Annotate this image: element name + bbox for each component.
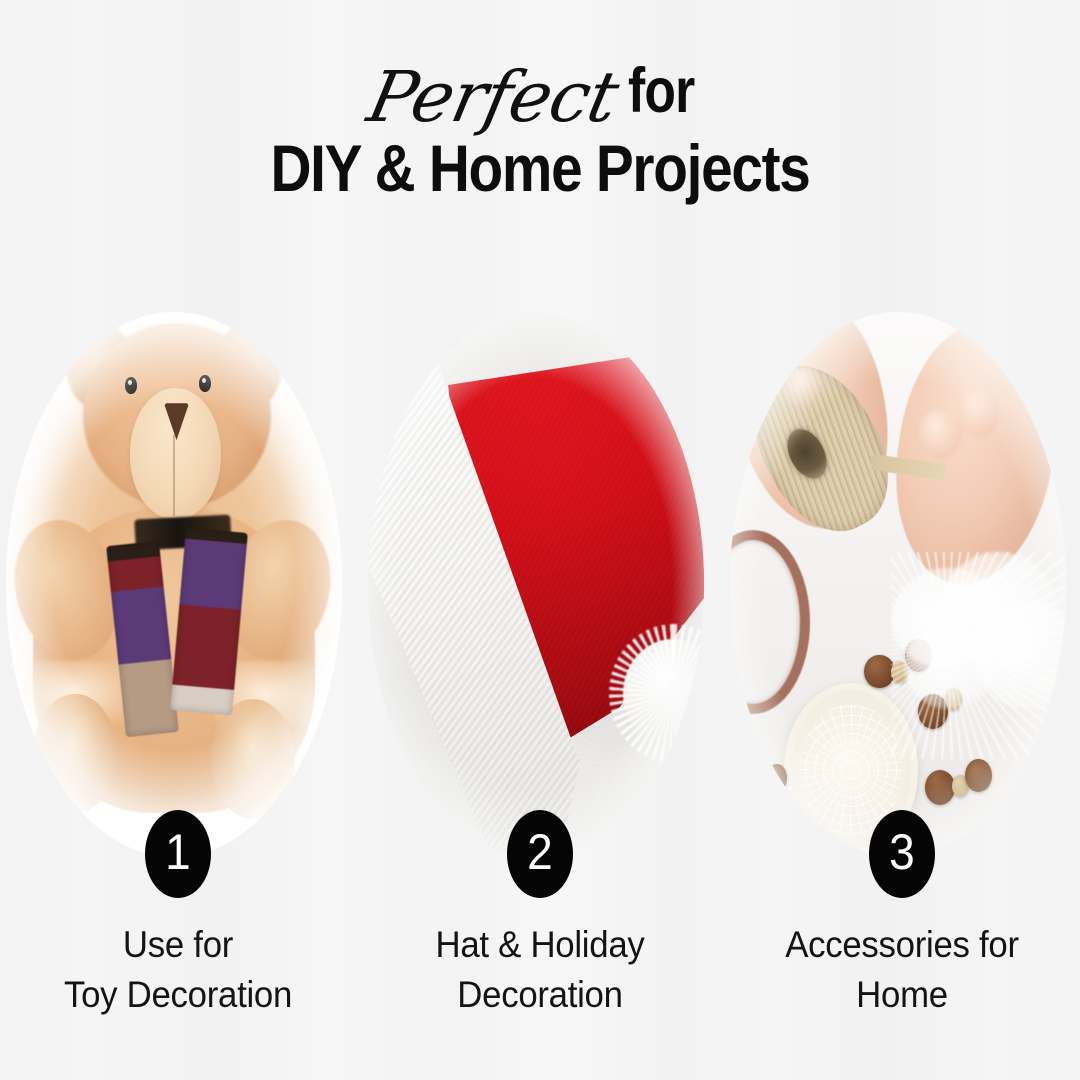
status-badge: 2 (507, 810, 573, 898)
headline-bold-word: for (628, 48, 694, 134)
teddy-bear-photo (6, 312, 342, 857)
card-caption: Accessories for Home (726, 920, 1078, 1020)
caption-line-2: Home (737, 970, 1068, 1020)
headline-block: Perfect for DIY & Home Projects (0, 48, 1080, 206)
image-oval-1 (6, 312, 342, 857)
badge-number: 2 (527, 827, 553, 877)
caption-line-2: Toy Decoration (13, 970, 344, 1020)
status-badge: 3 (869, 810, 935, 898)
headline-line-1: Perfect for (0, 48, 1080, 134)
promo-banner: Perfect for DIY & Home Projects (0, 0, 1080, 1080)
santa-hat-photo (368, 312, 704, 857)
caption-line-1: Use for (13, 920, 344, 970)
headline-line-2: DIY & Home Projects (76, 130, 1005, 206)
caption-line-1: Hat & Holiday (375, 920, 706, 970)
image-oval-3 (730, 312, 1066, 857)
list-item[interactable]: 1 Use for Toy Decoration (2, 312, 354, 912)
list-item[interactable]: 3 Accessories for Home (726, 312, 1078, 912)
headline-script-word: Perfect (361, 54, 626, 140)
card-caption: Use for Toy Decoration (2, 920, 354, 1020)
card-caption: Hat & Holiday Decoration (364, 920, 716, 1020)
image-oval-2 (368, 312, 704, 857)
badge-number: 1 (165, 827, 191, 877)
caption-line-1: Accessories for (737, 920, 1068, 970)
caption-line-2: Decoration (375, 970, 706, 1020)
craft-twine-photo (730, 312, 1066, 857)
status-badge: 1 (145, 810, 211, 898)
feature-card-row: 1 Use for Toy Decoration (0, 312, 1080, 912)
list-item[interactable]: 2 Hat & Holiday Decoration (364, 312, 716, 912)
badge-number: 3 (889, 827, 915, 877)
